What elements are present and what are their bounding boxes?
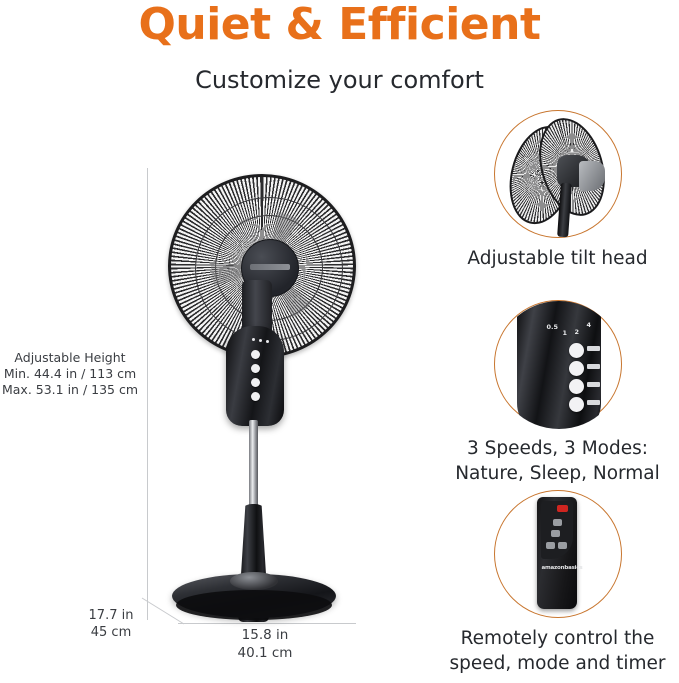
timer-indicator-3: 4 [587,321,592,329]
height-dimension-line [147,168,148,620]
timer-indicator-1: 1 [563,329,568,337]
panel-button-mode [569,379,584,394]
callout-circle-tilt-head [494,110,622,238]
timer-indicator-0: 0.5 [547,323,559,331]
depth-dimension-label: 17.7 in 45 cm [78,607,144,641]
caption-line-2: speed, mode and timer [436,651,679,676]
remote-key-speed [546,542,555,549]
pedestal-fan-photo [158,168,368,620]
tilt-rear-cowl [579,161,605,191]
remote-power-button-icon [557,505,568,512]
depth-inches: 17.7 in [78,607,144,624]
callout-speeds-modes: 0.5 1 2 4 3 Speeds, 3 Modes: Nature, Sle… [436,300,679,486]
telescoping-pole-chrome [249,420,258,518]
callout-remote-control: amazonbasics Remotely control the speed,… [436,490,679,676]
remote-body: amazonbasics [537,497,577,609]
remote-key-oscillate [558,542,567,549]
caption-line-1: Adjustable tilt head [436,246,679,271]
panel-button-timer [569,361,584,376]
callout-tilt-head: Adjustable tilt head [436,110,679,271]
callout-circle-remote-control: amazonbasics [494,490,622,618]
callout-caption-tilt-head: Adjustable tilt head [436,246,679,271]
callout-circle-speeds-modes: 0.5 1 2 4 [494,300,622,428]
callout-caption-speeds-modes: 3 Speeds, 3 Modes: Nature, Sleep, Normal [436,436,679,486]
depth-centimeters: 45 cm [78,624,144,641]
adjustable-height-label: Adjustable Height Min. 44.4 in / 113 cm … [0,350,140,398]
remote-brand-label: amazonbasics [542,565,573,571]
height-max: Max. 53.1 in / 135 cm [0,382,140,398]
remote-key-timer [553,519,562,526]
pod-indicator-dot [259,339,262,342]
width-centimeters: 40.1 cm [170,644,360,662]
width-dimension-label: 15.8 in 40.1 cm [170,626,360,662]
pod-button [251,364,260,373]
tilt-head-illustration [495,111,623,239]
panel-label-power [587,400,600,405]
control-panel-body: 0.5 1 2 4 [517,301,601,429]
panel-button-speed [569,343,584,358]
page-title: Quiet & Efficient [0,2,679,48]
height-min: Min. 44.4 in / 113 cm [0,366,140,382]
timer-indicator-2: 2 [575,328,580,336]
caption-line-1: 3 Speeds, 3 Modes: [436,436,679,461]
caption-line-2: Nature, Sleep, Normal [436,461,679,486]
panel-label-timer [587,364,600,369]
caption-line-1: Remotely control the [436,626,679,651]
pod-button [251,392,260,401]
pod-button [251,378,260,387]
pod-indicator-dot [252,338,255,341]
width-inches: 15.8 in [170,626,360,644]
remote-key-mode [551,530,560,537]
remote-illustration: amazonbasics [495,491,623,619]
control-panel-illustration: 0.5 1 2 4 [495,301,623,429]
panel-label-mode [587,382,600,387]
pod-indicator-dot [266,340,269,343]
hub-logo [250,264,290,270]
callout-caption-remote-control: Remotely control the speed, mode and tim… [436,626,679,676]
fan-base-rim [176,590,332,620]
pod-button [251,350,260,359]
fan-base-collar [230,572,278,590]
panel-label-speed [587,346,600,351]
width-dimension-line [178,623,356,624]
fan-control-pod [226,326,284,426]
panel-button-power [569,397,584,412]
height-title: Adjustable Height [0,350,140,366]
page-subtitle: Customize your comfort [0,66,679,94]
